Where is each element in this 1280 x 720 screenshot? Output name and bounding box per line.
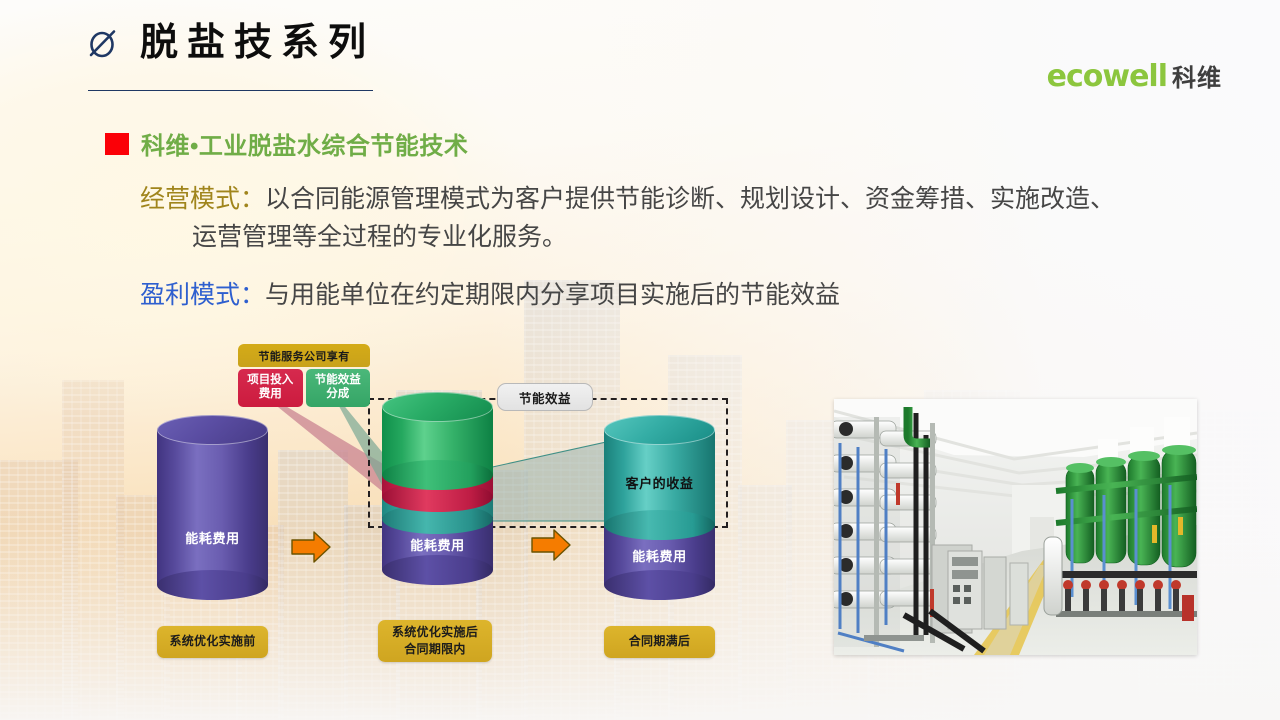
section-heading: 科维•工业脱盐水综合节能技术 bbox=[105, 126, 468, 161]
red-square-bullet-icon bbox=[105, 133, 129, 155]
legend-item-project-cost: 项目投入 费用 bbox=[238, 369, 303, 407]
caption-before-line1: 系统优化实施前 bbox=[169, 633, 255, 650]
cylinder-before: 能耗费用 bbox=[157, 415, 268, 600]
cylinder-before-label: 能耗费用 bbox=[157, 528, 268, 547]
legend-item-savings-share: 节能效益 分成 bbox=[306, 369, 371, 407]
business-model-colon: ： bbox=[240, 185, 265, 213]
cylinder-after-bottom-label: 能耗费用 bbox=[604, 546, 715, 565]
business-model-line1: 以合同能源管理模式为客户提供节能诊断、规划设计、资金筹措、实施改造、 bbox=[265, 185, 1115, 213]
logo-wordmark: ecowell bbox=[1047, 59, 1167, 94]
profit-model-text: 与用能单位在约定期限内分享项目实施后的节能效益 bbox=[265, 281, 840, 309]
arrow-right-icon-1 bbox=[290, 530, 332, 564]
legend-red-line2: 费用 bbox=[238, 387, 303, 401]
paragraph-business-model: 经营模式：以合同能源管理模式为客户提供节能诊断、规划设计、资金筹措、实施改造、 … bbox=[140, 180, 1250, 256]
caption-during-line2: 合同期限内 bbox=[404, 641, 466, 658]
paragraph-profit-model: 盈利模式：与用能单位在约定期限内分享项目实施后的节能效益 bbox=[140, 276, 1250, 314]
cylinder-after-top-label: 客户的收益 bbox=[604, 473, 715, 492]
business-model-line2: 运营管理等全过程的专业化服务。 bbox=[140, 218, 1250, 256]
page-title: 脱盐技系列 bbox=[140, 24, 375, 62]
profit-model-colon: ： bbox=[240, 281, 265, 309]
caption-during-line1: 系统优化实施后 bbox=[392, 624, 478, 641]
diameter-slash-icon bbox=[86, 26, 120, 60]
legend-green-line2: 分成 bbox=[306, 387, 371, 401]
business-model-label: 经营模式 bbox=[140, 185, 240, 213]
slide-header: 脱盐技系列 bbox=[86, 24, 375, 62]
benefit-tag: 节能效益 bbox=[497, 383, 593, 411]
caption-after: 合同期满后 bbox=[604, 626, 715, 658]
plant-photo-illustration bbox=[834, 399, 1197, 655]
legend-header: 节能服务公司享有 bbox=[238, 344, 370, 367]
legend-red-line1: 项目投入 bbox=[238, 373, 303, 387]
caption-before: 系统优化实施前 bbox=[157, 626, 268, 658]
cylinder-during: 能耗费用 bbox=[382, 392, 493, 600]
energy-savings-diagram: 节能效益 节能服务公司享有 项目投入 费用 节能效益 分成 能耗费用 bbox=[0, 330, 830, 670]
caption-after-line1: 合同期满后 bbox=[629, 633, 691, 650]
cylinder-during-label: 能耗费用 bbox=[382, 535, 493, 554]
legend-box: 节能服务公司享有 项目投入 费用 节能效益 分成 bbox=[238, 344, 370, 407]
legend-green-line1: 节能效益 bbox=[306, 373, 371, 387]
plant-photo bbox=[834, 399, 1197, 655]
section-heading-text: 科维•工业脱盐水综合节能技术 bbox=[141, 126, 468, 161]
cylinder-after: 客户的收益 能耗费用 bbox=[604, 415, 715, 600]
brand-logo: ecowell 科维 bbox=[1047, 58, 1222, 94]
caption-during: 系统优化实施后 合同期限内 bbox=[378, 620, 492, 662]
profit-model-label: 盈利模式 bbox=[140, 281, 240, 309]
logo-chinese-name: 科维 bbox=[1172, 58, 1222, 93]
title-underline bbox=[88, 90, 373, 91]
arrow-right-icon-2 bbox=[530, 528, 572, 562]
